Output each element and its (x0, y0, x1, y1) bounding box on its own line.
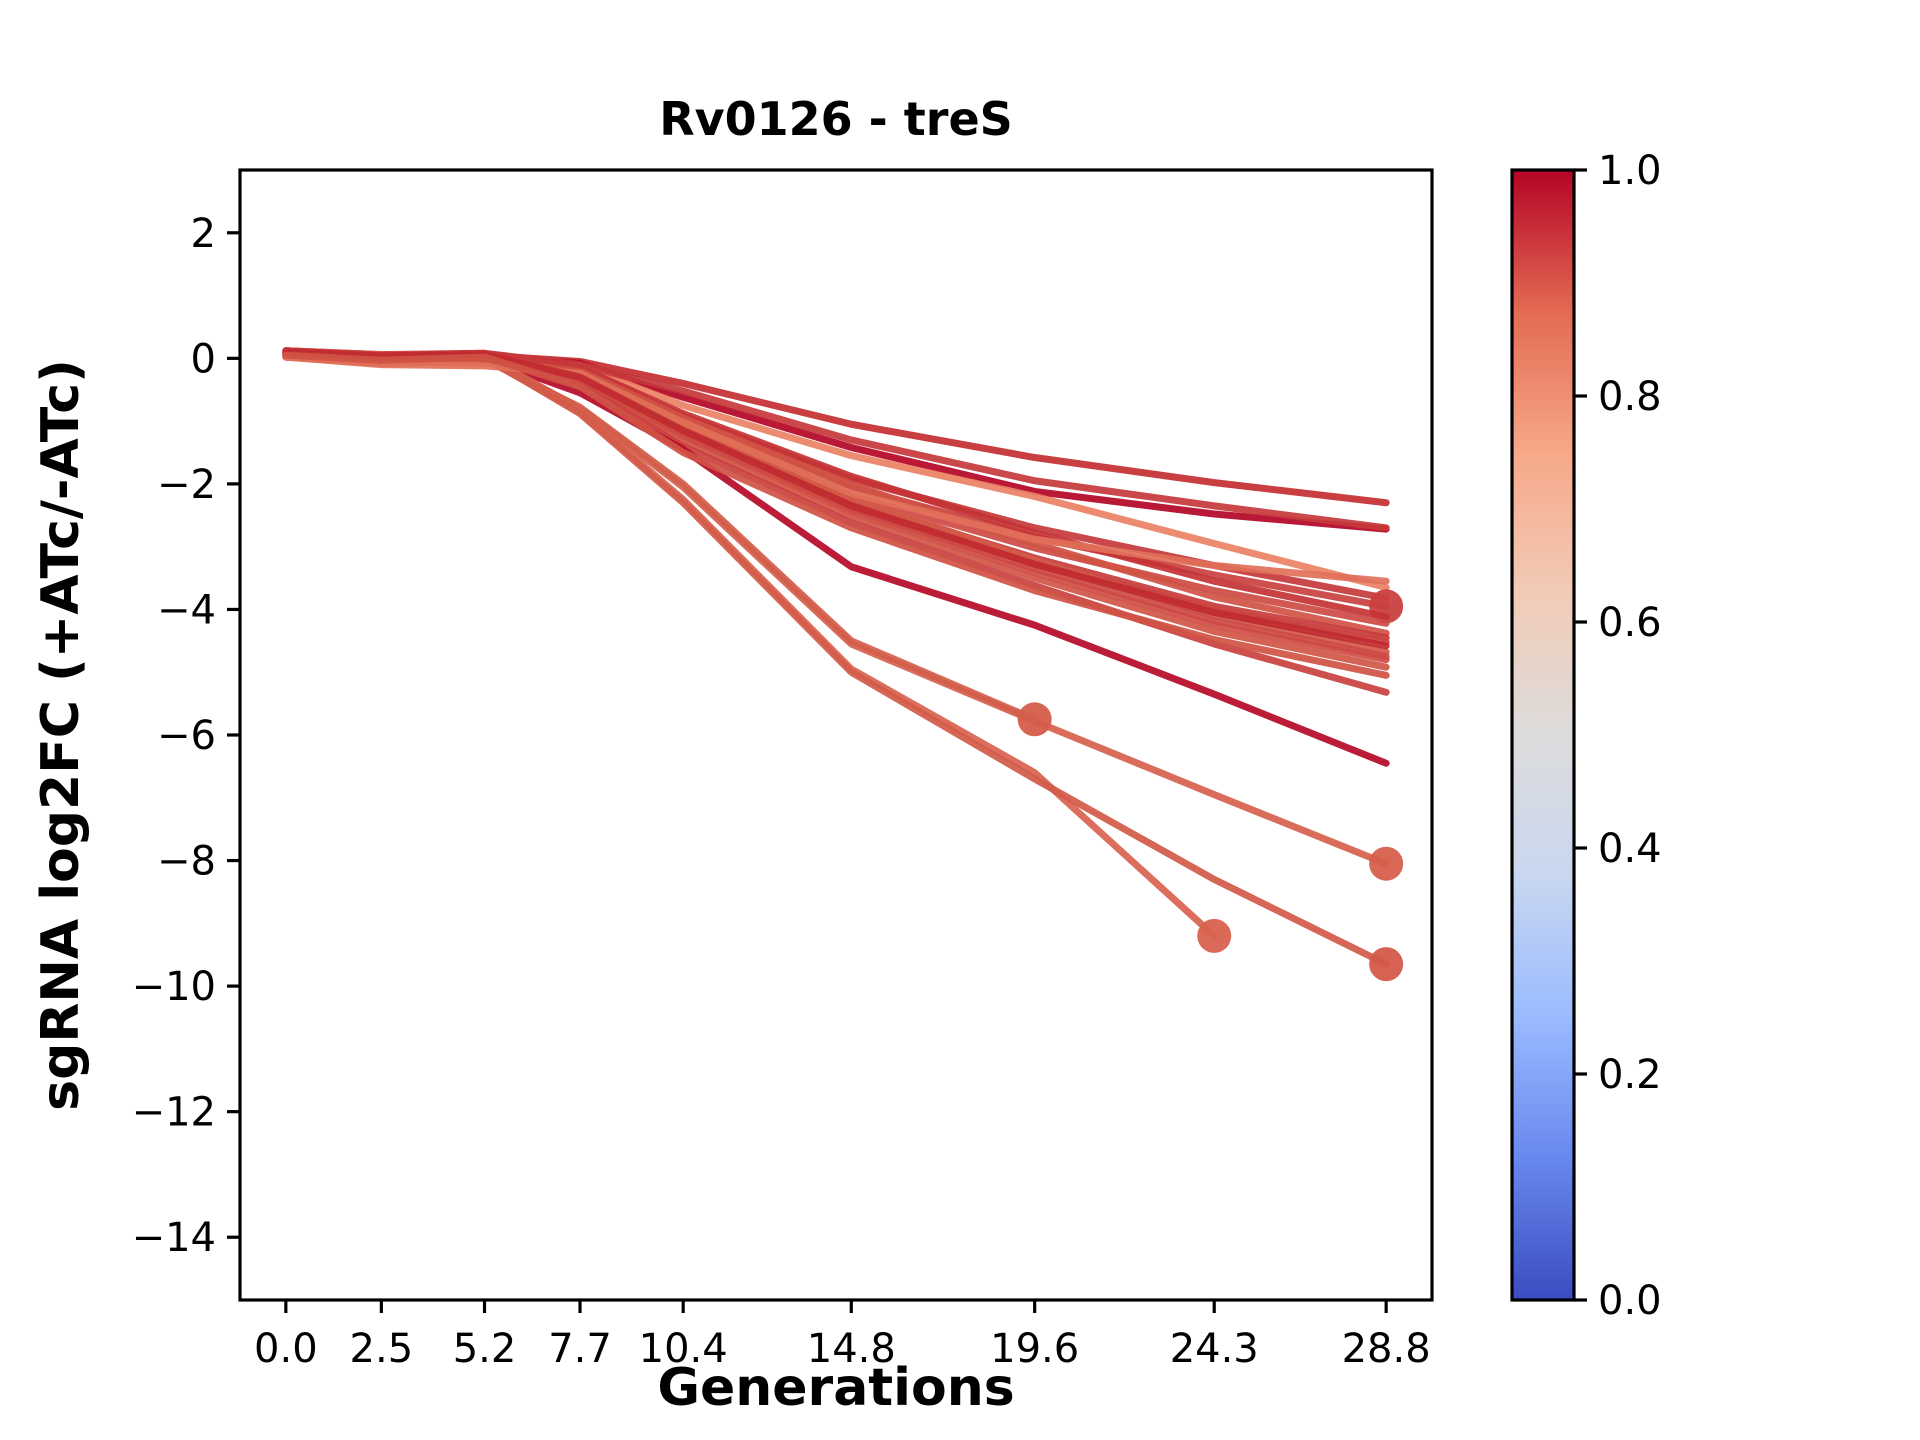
y-tick-label: −2 (157, 462, 216, 508)
colorbar-tick-label: 0.6 (1598, 600, 1662, 646)
colorbar-tick-label: 0.8 (1598, 374, 1662, 420)
series-end-marker (1369, 947, 1403, 981)
colorbar-gradient (1512, 170, 1574, 1300)
colorbar-tick-label: 0.0 (1598, 1278, 1662, 1324)
x-tick-label: 7.7 (548, 1326, 612, 1372)
figure-container: 0.02.55.27.710.414.819.624.328.8 20−2−4−… (0, 0, 1920, 1440)
x-tick-label: 28.8 (1342, 1326, 1431, 1372)
y-tick-label: −10 (132, 964, 216, 1010)
y-tick-label: 2 (191, 211, 216, 257)
x-tick-label: 0.0 (254, 1326, 318, 1372)
y-tick-label: −4 (157, 587, 216, 633)
y-tick-label: 0 (191, 336, 216, 382)
x-axis-label: Generations (657, 1358, 1014, 1418)
colorbar-ticks: 0.00.20.40.60.81.0 (1574, 148, 1662, 1324)
series-end-marker (1018, 702, 1052, 736)
colorbar-tick-label: 1.0 (1598, 148, 1662, 194)
x-tick-label: 5.2 (453, 1326, 517, 1372)
colorbar: 0.00.20.40.60.81.0 (1512, 148, 1662, 1324)
y-tick-label: −8 (157, 839, 216, 885)
y-axis-ticks: 20−2−4−6−8−10−12−14 (132, 211, 240, 1261)
y-tick-label: −12 (132, 1090, 216, 1136)
colorbar-tick-label: 0.2 (1598, 1052, 1662, 1098)
y-tick-label: −14 (132, 1215, 216, 1261)
series-end-marker (1369, 847, 1403, 881)
series-end-marker (1197, 919, 1231, 953)
chart-canvas: 0.02.55.27.710.414.819.624.328.8 20−2−4−… (0, 0, 1920, 1440)
chart-title: Rv0126 - treS (659, 92, 1013, 146)
y-axis-label: sgRNA log2FC (+ATc/-ATc) (31, 359, 91, 1111)
x-tick-label: 24.3 (1170, 1326, 1259, 1372)
plot-background (240, 170, 1432, 1300)
colorbar-tick-label: 0.4 (1598, 826, 1662, 872)
y-tick-label: −6 (157, 713, 216, 759)
x-tick-label: 2.5 (350, 1326, 414, 1372)
